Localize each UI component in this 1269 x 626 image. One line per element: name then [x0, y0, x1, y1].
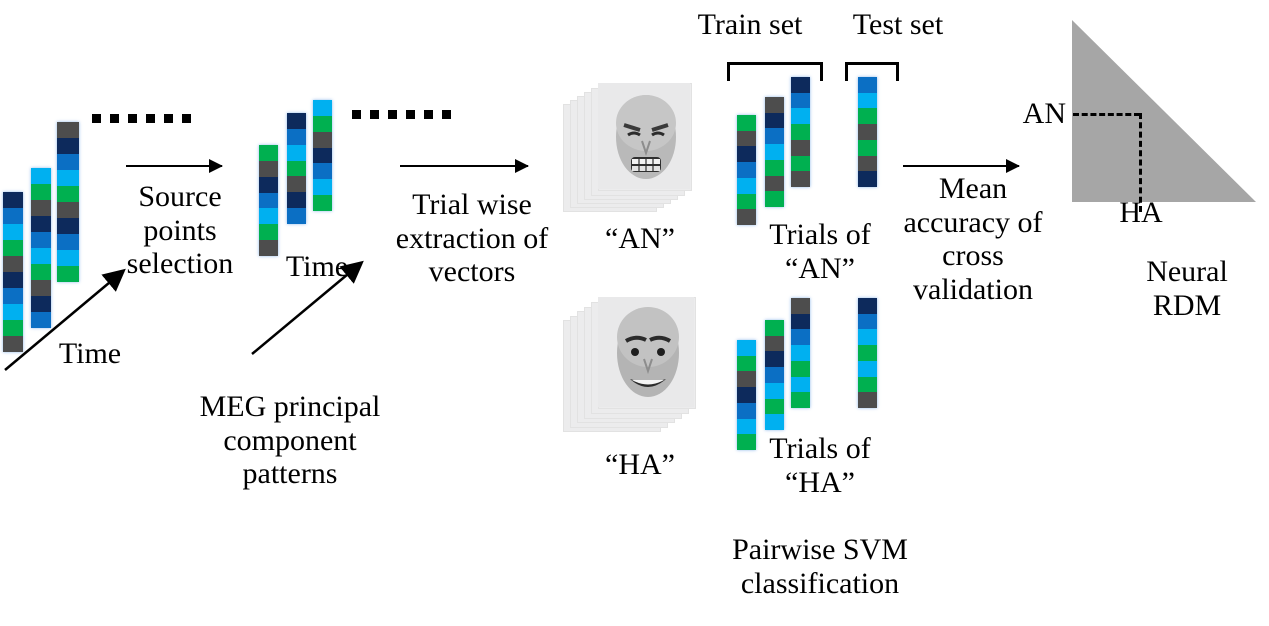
- pattern-cell-green: [737, 194, 756, 210]
- pattern-cell-blue: [791, 93, 810, 109]
- pattern-cell-navy: [791, 314, 810, 330]
- pattern-cell-gray: [791, 140, 810, 156]
- pattern-cell-cyan: [858, 93, 877, 109]
- pattern-cell-blue: [765, 367, 784, 383]
- pattern-cell-blue: [287, 129, 306, 145]
- label-source-points-selection: Source points selection: [110, 180, 250, 281]
- pattern-cell-navy: [259, 177, 278, 193]
- selected-source-bar: [313, 100, 332, 211]
- train-an-bar: [791, 77, 810, 187]
- pattern-cell-cyan: [765, 383, 784, 399]
- figure-canvas: Time Source points selection MEG princip…: [0, 0, 1269, 626]
- pattern-cell-green: [3, 240, 23, 256]
- pattern-cell-green: [858, 108, 877, 124]
- face-stack-an: [563, 78, 693, 218]
- pattern-cell-gray: [791, 171, 810, 187]
- pattern-cell-navy: [31, 216, 51, 232]
- pattern-cell-green: [858, 345, 877, 361]
- pattern-cell-green: [791, 392, 810, 408]
- pattern-cell-navy: [858, 298, 877, 314]
- pattern-cell-gray: [57, 122, 79, 138]
- arrow-source-points-selection: [126, 165, 222, 167]
- pattern-cell-green: [737, 356, 756, 372]
- pattern-cell-gray: [858, 156, 877, 172]
- ellipsis-dots-2: [352, 110, 451, 119]
- pattern-cell-green: [259, 145, 278, 161]
- pattern-cell-blue: [858, 314, 877, 330]
- face-stack-ha: [563, 292, 693, 442]
- pattern-cell-gray: [791, 298, 810, 314]
- pattern-cell-green: [313, 195, 332, 211]
- pattern-cell-navy: [765, 351, 784, 367]
- pattern-cell-green: [765, 320, 784, 336]
- pattern-cell-green: [765, 399, 784, 415]
- selected-source-bar: [259, 145, 278, 256]
- train-an-bar: [765, 97, 784, 207]
- rdm-row-guideline: [1073, 113, 1140, 116]
- train-an-bar: [737, 115, 756, 225]
- pattern-cell-navy: [287, 113, 306, 129]
- pattern-cell-green: [259, 224, 278, 240]
- train-ha-bar: [791, 298, 810, 408]
- pattern-cell-cyan: [3, 224, 23, 240]
- pattern-cell-cyan: [765, 414, 784, 430]
- pattern-cell-gray: [765, 176, 784, 192]
- pattern-cell-cyan: [737, 178, 756, 194]
- pattern-cell-cyan: [57, 170, 79, 186]
- pattern-cell-cyan: [765, 144, 784, 160]
- ellipsis-dots-1: [92, 114, 191, 123]
- time-label-mid: Time: [272, 250, 362, 284]
- label-train-set: Train set: [675, 8, 825, 42]
- angry-face-image: [598, 83, 690, 189]
- selected-source-bar: [287, 113, 306, 224]
- pattern-cell-cyan: [858, 361, 877, 377]
- arrow-mean-accuracy: [903, 165, 1019, 167]
- pattern-cell-blue: [765, 128, 784, 144]
- pattern-cell-blue: [31, 232, 51, 248]
- label-face-an: “AN”: [575, 222, 705, 256]
- rdm-row-label: AN: [1004, 97, 1066, 131]
- pattern-cell-green: [287, 161, 306, 177]
- pattern-cell-green: [737, 115, 756, 131]
- pattern-cell-cyan: [858, 329, 877, 345]
- pattern-cell-blue: [791, 329, 810, 345]
- time-label-left: Time: [40, 337, 140, 371]
- pattern-cell-gray: [858, 124, 877, 140]
- pattern-cell-blue: [259, 193, 278, 209]
- pattern-cell-gray: [858, 392, 877, 408]
- pattern-cell-green: [791, 156, 810, 172]
- pattern-cell-blue: [737, 403, 756, 419]
- pattern-cell-navy: [765, 113, 784, 129]
- pattern-cell-gray: [765, 336, 784, 352]
- label-trial-wise-extraction: Trial wise extraction of vectors: [382, 188, 562, 289]
- pattern-cell-navy: [858, 171, 877, 187]
- pattern-cell-green: [31, 184, 51, 200]
- pattern-cell-green: [313, 116, 332, 132]
- rdm-col-label: HA: [1106, 196, 1176, 230]
- pattern-cell-navy: [791, 77, 810, 93]
- pattern-cell-green: [858, 140, 877, 156]
- label-neural-rdm: Neural RDM: [1112, 255, 1262, 322]
- label-test-set: Test set: [838, 8, 958, 42]
- label-pairwise-svm-classification: Pairwise SVM classification: [690, 533, 950, 600]
- pattern-cell-blue: [313, 163, 332, 179]
- pattern-cell-green: [765, 160, 784, 176]
- pattern-cell-blue: [3, 208, 23, 224]
- pattern-cell-green: [791, 124, 810, 140]
- pattern-cell-navy: [287, 192, 306, 208]
- happy-face-image: [598, 297, 694, 407]
- pattern-cell-navy: [57, 138, 79, 154]
- label-trials-of-an: Trials of “AN”: [740, 218, 900, 285]
- pattern-cell-green: [858, 377, 877, 393]
- pattern-cell-gray: [287, 176, 306, 192]
- label-mean-accuracy-cross-validation: Mean accuracy of cross validation: [898, 172, 1048, 306]
- pattern-cell-cyan: [737, 340, 756, 356]
- test-an-bar: [858, 77, 877, 187]
- pattern-cell-cyan: [791, 108, 810, 124]
- pattern-cell-blue: [57, 154, 79, 170]
- pattern-cell-gray: [737, 371, 756, 387]
- pattern-cell-blue: [858, 77, 877, 93]
- pattern-cell-gray: [737, 131, 756, 147]
- pattern-cell-cyan: [791, 377, 810, 393]
- arrow-trial-wise-extraction: [400, 165, 528, 167]
- pattern-cell-cyan: [313, 179, 332, 195]
- pattern-cell-gray: [765, 97, 784, 113]
- pattern-cell-blue: [737, 162, 756, 178]
- pattern-cell-green: [765, 191, 784, 207]
- pattern-cell-gray: [259, 161, 278, 177]
- pattern-cell-navy: [57, 218, 79, 234]
- pattern-cell-navy: [313, 148, 332, 164]
- pattern-cell-cyan: [287, 145, 306, 161]
- pattern-cell-blue: [287, 208, 306, 224]
- pattern-cell-cyan: [313, 100, 332, 116]
- label-meg-principal-component-patterns: MEG principal component patterns: [160, 390, 420, 491]
- pattern-cell-green: [791, 361, 810, 377]
- pattern-cell-navy: [737, 146, 756, 162]
- neural-rdm-triangle: [1068, 16, 1260, 206]
- pattern-cell-gray: [313, 132, 332, 148]
- pattern-cell-cyan: [791, 345, 810, 361]
- pattern-cell-navy: [737, 387, 756, 403]
- pattern-cell-cyan: [259, 208, 278, 224]
- train-ha-bar: [765, 320, 784, 430]
- pattern-cell-green: [57, 186, 79, 202]
- test-ha-bar: [858, 298, 877, 408]
- pattern-cell-cyan: [31, 168, 51, 184]
- pattern-cell-gray: [31, 200, 51, 216]
- label-face-ha: “HA”: [575, 448, 705, 482]
- pattern-cell-navy: [3, 192, 23, 208]
- pattern-cell-gray: [57, 202, 79, 218]
- label-trials-of-ha: Trials of “HA”: [740, 432, 900, 499]
- pattern-cell-blue: [57, 234, 79, 250]
